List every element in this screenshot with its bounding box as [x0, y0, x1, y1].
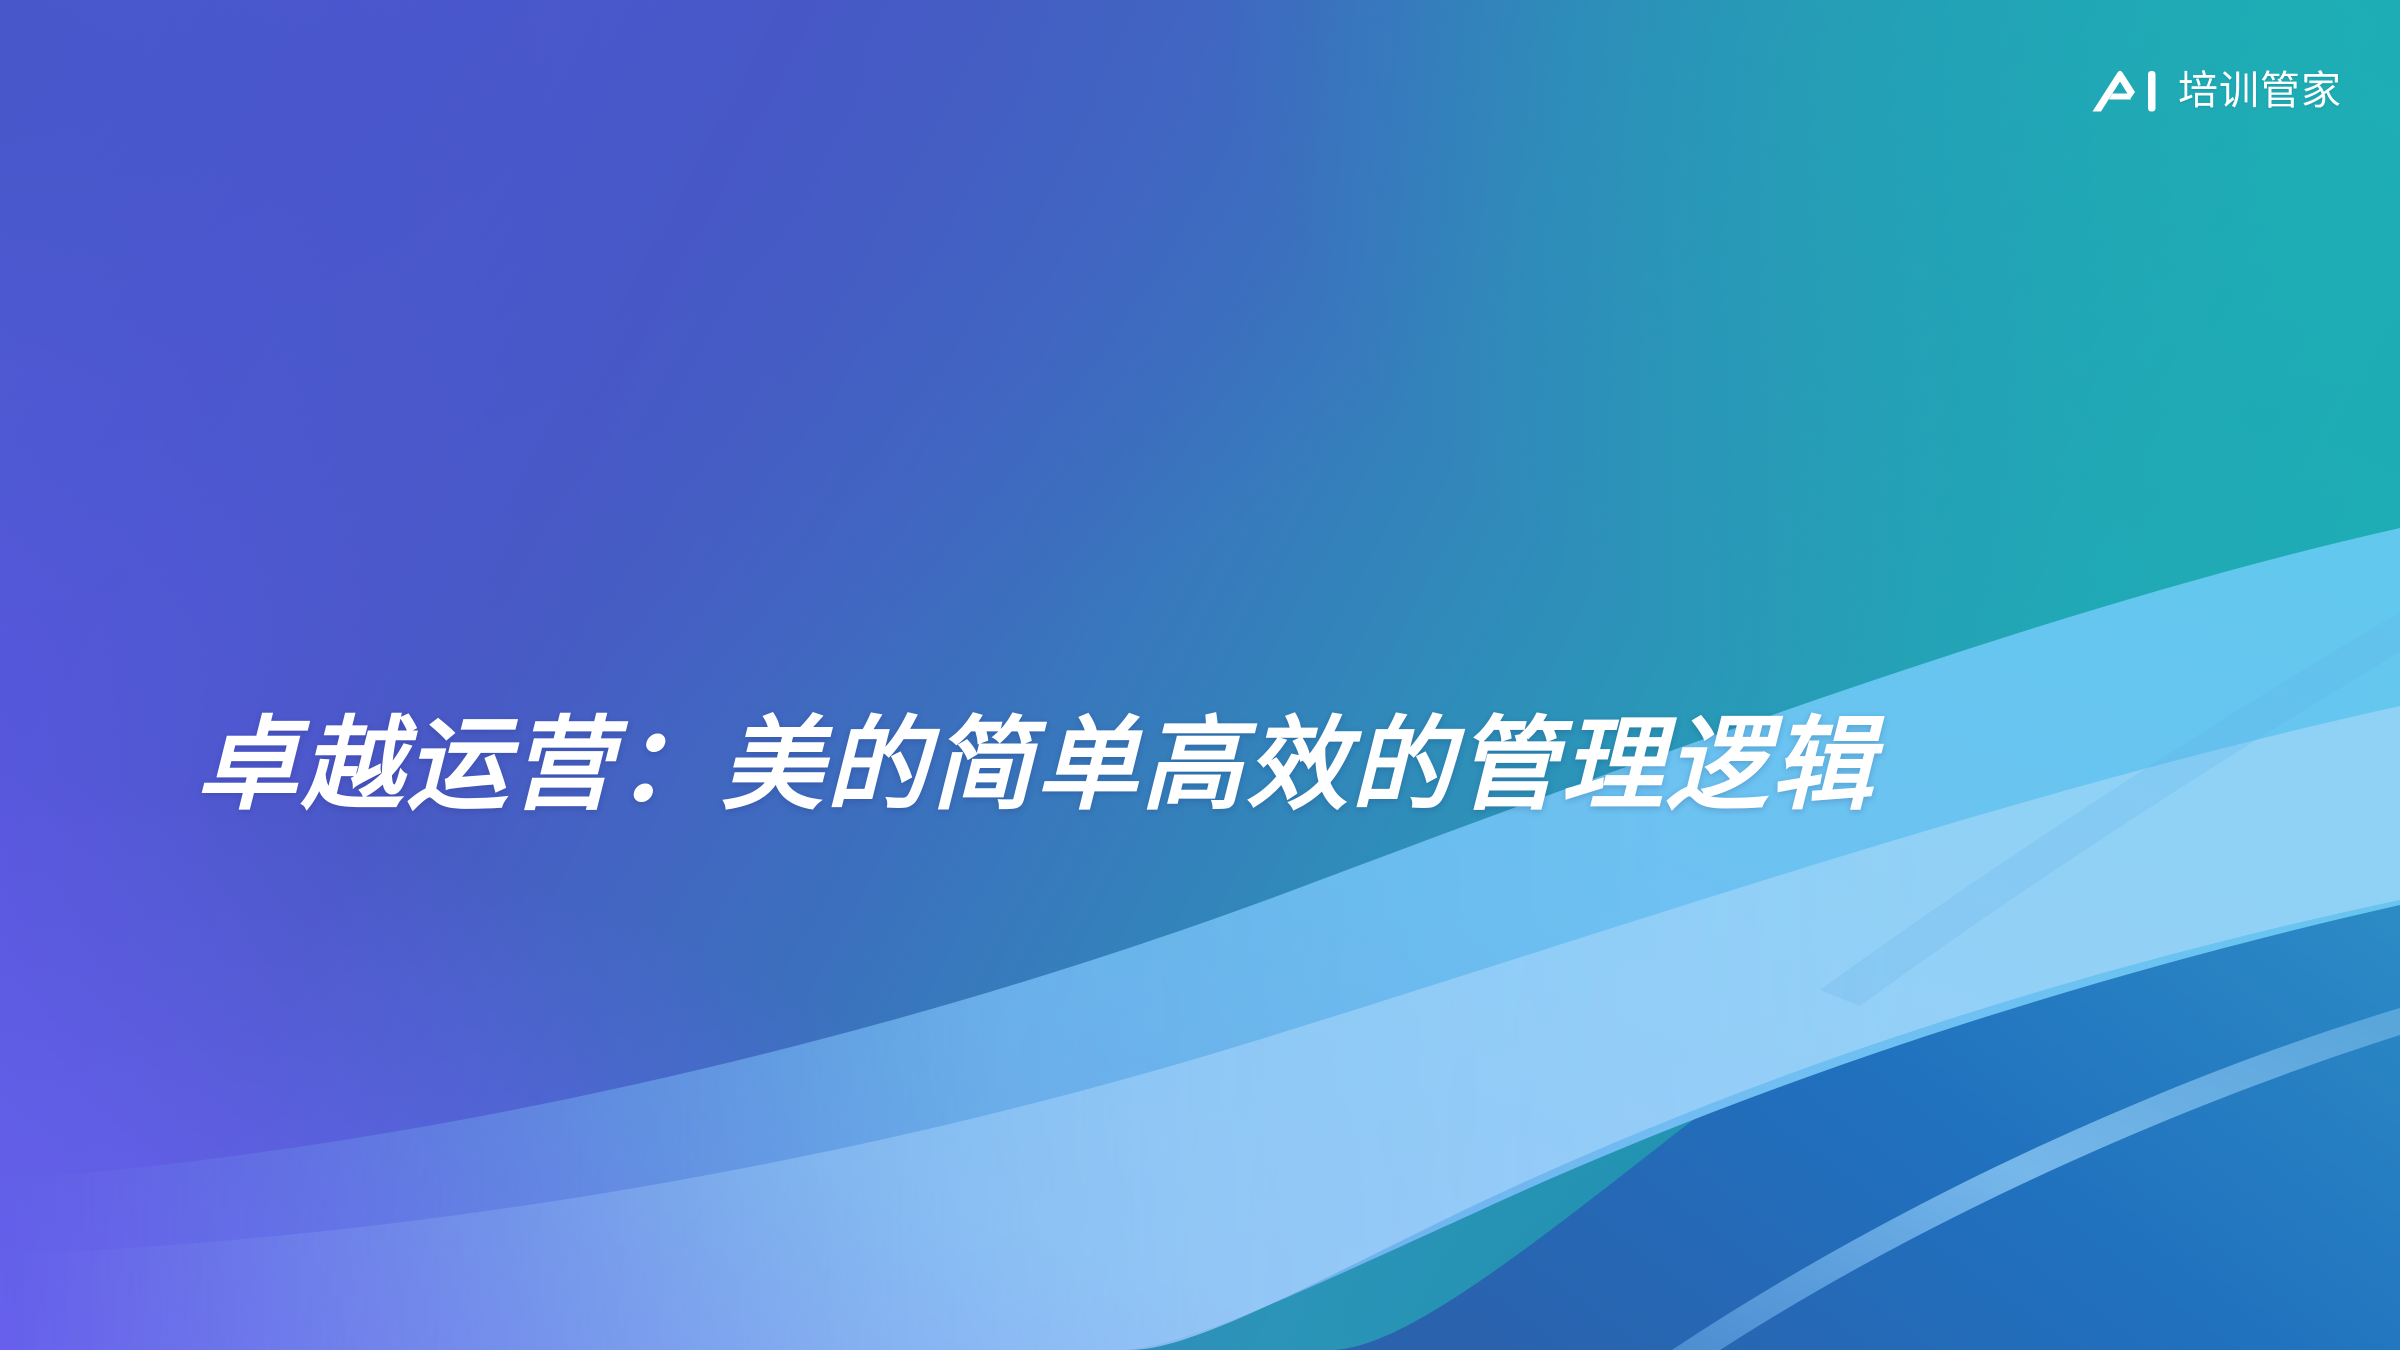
- ai-logo-icon: [2089, 68, 2167, 114]
- slide-title: 卓越运营：美的简单高效的管理逻辑: [196, 708, 1896, 822]
- presentation-slide: 培训管家 卓越运营：美的简单高效的管理逻辑: [0, 0, 2400, 1350]
- brand-name-label: 培训管家: [2178, 71, 2342, 111]
- brand-logo[interactable]: 培训管家: [2089, 62, 2342, 120]
- decorative-ribbons: [0, 0, 2400, 1350]
